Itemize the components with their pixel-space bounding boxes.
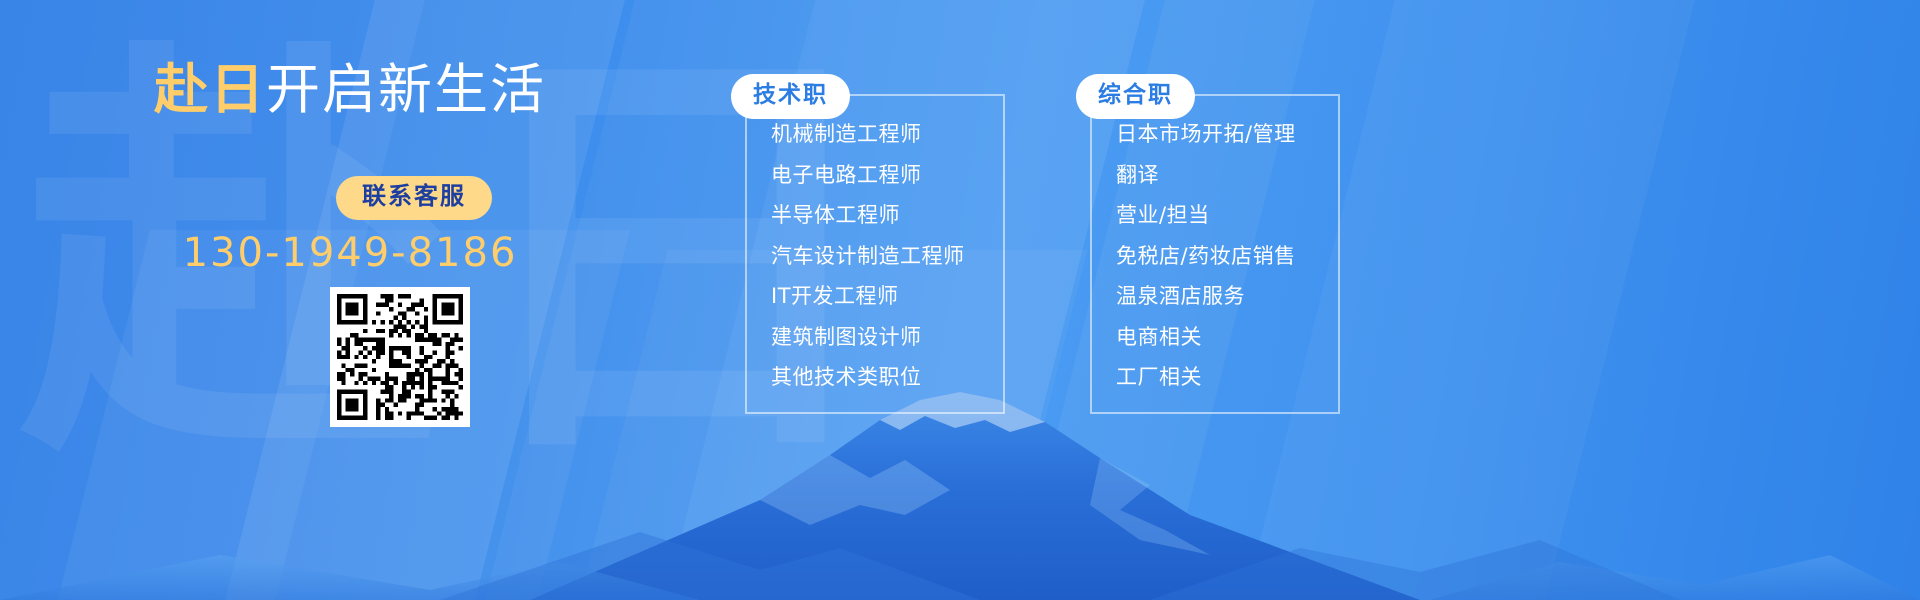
job-list-item[interactable]: 日本市场开拓/管理 [1116, 114, 1338, 155]
job-list-item[interactable]: 汽车设计制造工程师 [771, 236, 1003, 277]
job-list-item[interactable]: 机械制造工程师 [771, 114, 1003, 155]
job-list-item[interactable]: 电商相关 [1116, 317, 1338, 358]
headline-accent: 赴日 [154, 58, 266, 121]
job-column-technical: 技术职 机械制造工程师 电子电路工程师 半导体工程师 汽车设计制造工程师 IT开… [745, 94, 1005, 414]
job-column-general: 综合职 日本市场开拓/管理 翻译 营业/担当 免税店/药妆店销售 温泉酒店服务 … [1090, 94, 1340, 414]
job-list-item[interactable]: 半导体工程师 [771, 195, 1003, 236]
job-list-general: 日本市场开拓/管理 翻译 营业/担当 免税店/药妆店销售 温泉酒店服务 电商相关… [1090, 96, 1340, 414]
headline-rest: 开启新生活 [266, 58, 546, 121]
job-category-badge-technical: 技术职 [731, 74, 850, 119]
job-list-technical: 机械制造工程师 电子电路工程师 半导体工程师 汽车设计制造工程师 IT开发工程师… [745, 96, 1005, 414]
promo-banner: 赴日 赴日开启新生活 联系客服 130-1949-8186 [0, 0, 1920, 600]
job-list-item[interactable]: 其他技术类职位 [771, 357, 1003, 398]
wechat-qr-code[interactable] [330, 287, 470, 427]
job-category-badge-general: 综合职 [1076, 74, 1195, 119]
job-list-item[interactable]: 温泉酒店服务 [1116, 276, 1338, 317]
job-list-item[interactable]: 翻译 [1116, 155, 1338, 196]
qr-code-canvas [337, 294, 463, 420]
page-title: 赴日开启新生活 [0, 45, 700, 124]
job-list-item[interactable]: 建筑制图设计师 [771, 317, 1003, 358]
job-list-item[interactable]: 免税店/药妆店销售 [1116, 236, 1338, 277]
job-list-item[interactable]: 营业/担当 [1116, 195, 1338, 236]
job-list-item[interactable]: IT开发工程师 [771, 276, 1003, 317]
contact-support-button[interactable]: 联系客服 [336, 176, 492, 220]
left-promo-block: 赴日开启新生活 联系客服 130-1949-8186 [0, 0, 700, 600]
job-list-item[interactable]: 工厂相关 [1116, 357, 1338, 398]
job-list-item[interactable]: 电子电路工程师 [771, 155, 1003, 196]
phone-number[interactable]: 130-1949-8186 [0, 230, 700, 276]
